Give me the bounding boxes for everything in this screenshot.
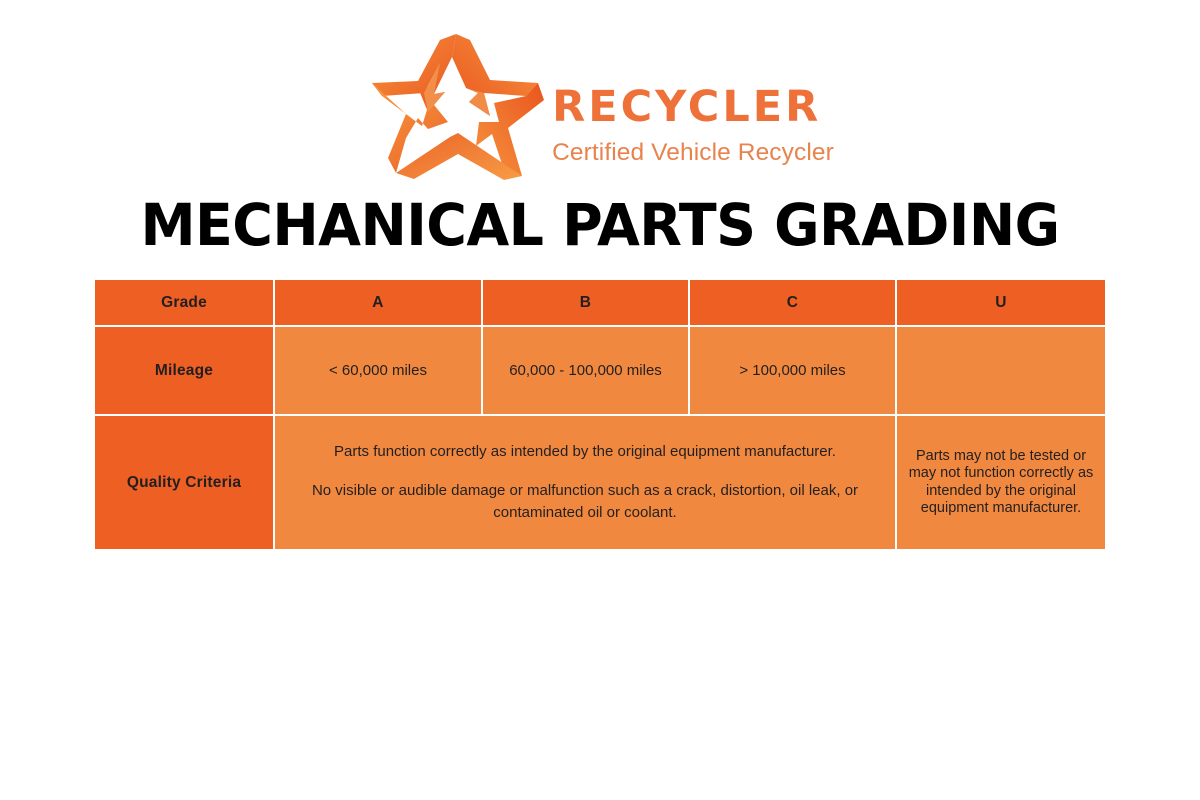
row-label-mileage: Mileage [95, 327, 275, 416]
header-cell-c: C [690, 280, 897, 327]
quality-criteria-cell-abc: Parts function correctly as intended by … [275, 416, 897, 549]
row-label-quality-criteria: Quality Criteria [95, 416, 275, 549]
mileage-cell-u [897, 327, 1105, 416]
brand-tagline: Certified Vehicle Recycler [552, 141, 834, 166]
grading-chart-page: RECYCLER Certified Vehicle Recycler MECH… [0, 0, 1200, 800]
page-title: MECHANICAL PARTS GRADING [27, 196, 1173, 254]
header-cell-grade: Grade [95, 280, 275, 327]
quality-criteria-cell-u: Parts may not be tested or may not funct… [897, 416, 1105, 549]
brand-name: RECYCLER [552, 86, 834, 129]
mileage-cell-b: 60,000 - 100,000 miles [483, 327, 690, 416]
brand-logo: RECYCLER Certified Vehicle Recycler [0, 30, 1200, 180]
quality-criteria-paragraph-1: Parts function correctly as intended by … [281, 441, 889, 463]
mechanical-parts-grading-table: Grade A B C U Mileage < 60,000 miles 60,… [95, 280, 1105, 549]
header-cell-a: A [275, 280, 483, 327]
recycling-star-logo-icon [366, 30, 546, 180]
table-row-mileage: Mileage < 60,000 miles 60,000 - 100,000 … [95, 327, 1105, 416]
mileage-cell-c: > 100,000 miles [690, 327, 897, 416]
mileage-cell-a: < 60,000 miles [275, 327, 483, 416]
quality-criteria-paragraph-2: No visible or audible damage or malfunct… [281, 480, 889, 524]
header-cell-b: B [483, 280, 690, 327]
table-row-quality-criteria: Quality Criteria Parts function correctl… [95, 416, 1105, 549]
header-cell-u: U [897, 280, 1105, 327]
table-header-row: Grade A B C U [95, 280, 1105, 327]
